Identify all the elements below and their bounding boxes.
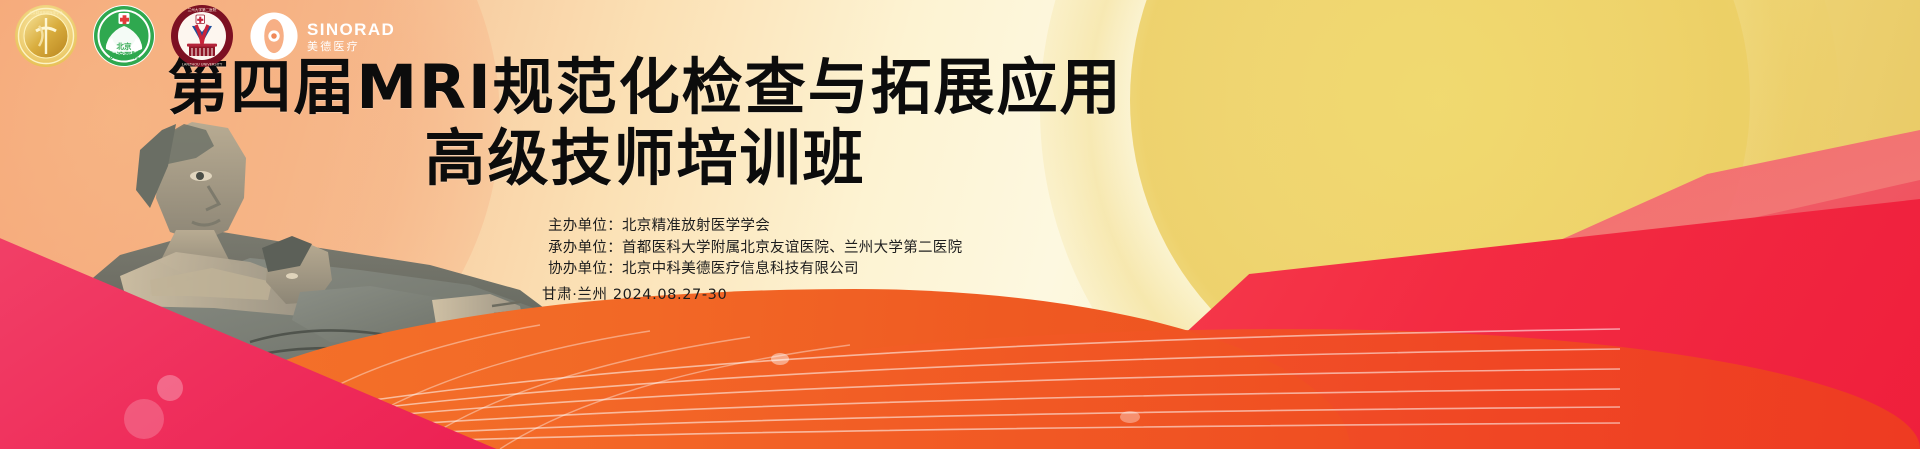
svg-text:LANZHOU UNIVERSITY: LANZHOU UNIVERSITY — [182, 62, 223, 66]
magenta-wedge-left — [0, 169, 520, 449]
co-host-organizations: 承办单位：首都医科大学附属北京友谊医院、兰州大学第二医院 — [548, 238, 962, 260]
beijing-youyi-hospital-logo: 北京 友谊医院 — [92, 4, 156, 68]
lanzhou-university-second-hospital-logo: 兰州大学第二医院 LANZHOU UNIVERSITY — [170, 4, 234, 68]
red-panel-band — [1110, 300, 1810, 449]
svg-text:友谊医院: 友谊医院 — [108, 50, 139, 60]
sinorad-eye-icon — [248, 10, 300, 62]
svg-text:北京: 北京 — [117, 41, 132, 51]
red-panel-upper — [1360, 130, 1920, 330]
title-block: 第四届MRI规范化检查与拓展应用 高级技师培训班 — [0, 56, 1290, 191]
zhongshan-bridge — [1180, 170, 1920, 449]
decor-dot-2 — [124, 399, 164, 439]
orange-wave-primary — [170, 289, 1350, 449]
place-and-date: 甘肃·兰州 2024.08.27-30 — [542, 285, 962, 307]
sinorad-logo: SINORAD 美德医疗 — [248, 10, 395, 62]
sinorad-english-label: SINORAD — [307, 21, 395, 38]
red-panel-mid — [1160, 180, 1920, 449]
conference-banner: 北京精准放射医学学会 北京 友谊医院 兰州大学第二医院 LANZHOU UN — [0, 0, 1920, 449]
host-organization: 主办单位：北京精准放射医学学会 — [548, 216, 962, 238]
svg-text:兰州大学第二医院: 兰州大学第二医院 — [188, 7, 217, 12]
decor-dot-1 — [157, 375, 183, 401]
orange-wave-secondary — [520, 329, 1920, 449]
red-panel-lower — [1060, 199, 1920, 449]
organizer-info-block: 主办单位：北京精准放射医学学会 承办单位：首都医科大学附属北京友谊医院、兰州大学… — [548, 216, 962, 306]
wave-line-decor — [120, 299, 1620, 449]
supporting-organization: 协办单位：北京中科美德医疗信息科技有限公司 — [548, 259, 962, 281]
sinorad-chinese-label: 美德医疗 — [307, 41, 395, 52]
gold-medal-logo: 北京精准放射医学学会 — [14, 4, 78, 68]
title-line-2: 高级技师培训班 — [0, 127, 1290, 192]
logo-row: 北京精准放射医学学会 北京 友谊医院 兰州大学第二医院 LANZHOU UN — [14, 4, 395, 68]
svg-text:北京精准放射医学学会: 北京精准放射医学学会 — [29, 10, 64, 15]
